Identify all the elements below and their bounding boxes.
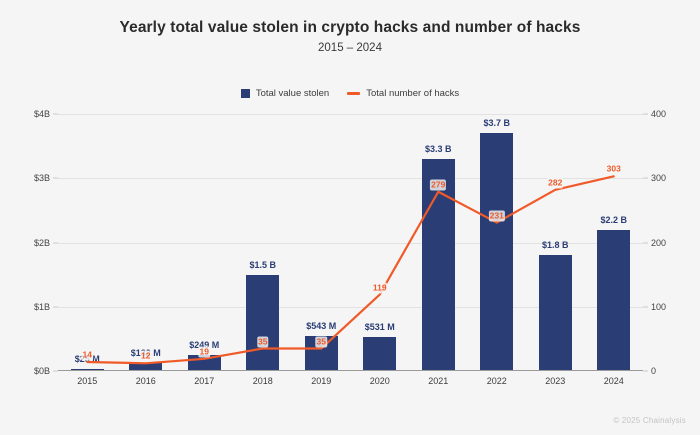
x-axis-tick-label: 2023 <box>545 376 565 386</box>
footer-credit: © 2025 Chainalysis <box>613 416 686 425</box>
line-point-label: 35 <box>316 336 327 347</box>
x-axis-baseline <box>58 370 643 371</box>
y-axis-right-tick-mark <box>643 114 648 115</box>
y-axis-right-tick-label: 100 <box>651 302 666 312</box>
x-axis-tick-label: 2017 <box>194 376 214 386</box>
y-axis-left-tick-label: $3B <box>34 173 50 183</box>
y-axis-right-tick-mark <box>643 178 648 179</box>
x-axis-tick-label: 2021 <box>428 376 448 386</box>
plot-area: $0B$1B$2B$3B$4B 0100200300400 $25 M$132 … <box>58 114 643 371</box>
x-axis-tick-label: 2015 <box>77 376 97 386</box>
line-point-label: 35 <box>257 336 268 347</box>
line-point-label: 282 <box>547 177 563 188</box>
line-point-label: 231 <box>489 210 505 221</box>
y-axis-left-tick-label: $1B <box>34 302 50 312</box>
y-axis-right-tick-label: 200 <box>651 238 666 248</box>
plot-wrapper: $0B$1B$2B$3B$4B 0100200300400 $25 M$132 … <box>0 0 700 435</box>
x-axis-tick-label: 2019 <box>311 376 331 386</box>
chart-card: Yearly total value stolen in crypto hack… <box>0 0 700 435</box>
y-axis-right-tick-label: 300 <box>651 173 666 183</box>
line-point-label: 14 <box>82 350 93 361</box>
line-point-label: 303 <box>606 164 622 175</box>
line-point-label: 119 <box>372 282 388 293</box>
y-axis-left-tick-label: $2B <box>34 238 50 248</box>
x-axis-tick-label: 2024 <box>604 376 624 386</box>
x-axis: 2015201620172018201920202021202220232024 <box>58 374 643 392</box>
y-axis-left-tick-label: $4B <box>34 109 50 119</box>
x-axis-tick-label: 2022 <box>487 376 507 386</box>
y-axis-right-tick-label: 400 <box>651 109 666 119</box>
x-axis-tick-label: 2020 <box>370 376 390 386</box>
line-point-label: 12 <box>140 351 151 362</box>
y-axis-right-tick-label: 0 <box>651 366 656 376</box>
x-axis-tick-label: 2016 <box>136 376 156 386</box>
line-series-total-number-of-hacks <box>58 114 643 371</box>
y-axis-right-tick-mark <box>643 306 648 307</box>
line-point-label: 279 <box>430 179 446 190</box>
y-axis-right-tick-mark <box>643 371 648 372</box>
y-axis-left-tick-label: $0B <box>34 366 50 376</box>
y-axis-right-tick-mark <box>643 242 648 243</box>
line-point-label: 19 <box>199 346 210 357</box>
x-axis-tick-label: 2018 <box>253 376 273 386</box>
